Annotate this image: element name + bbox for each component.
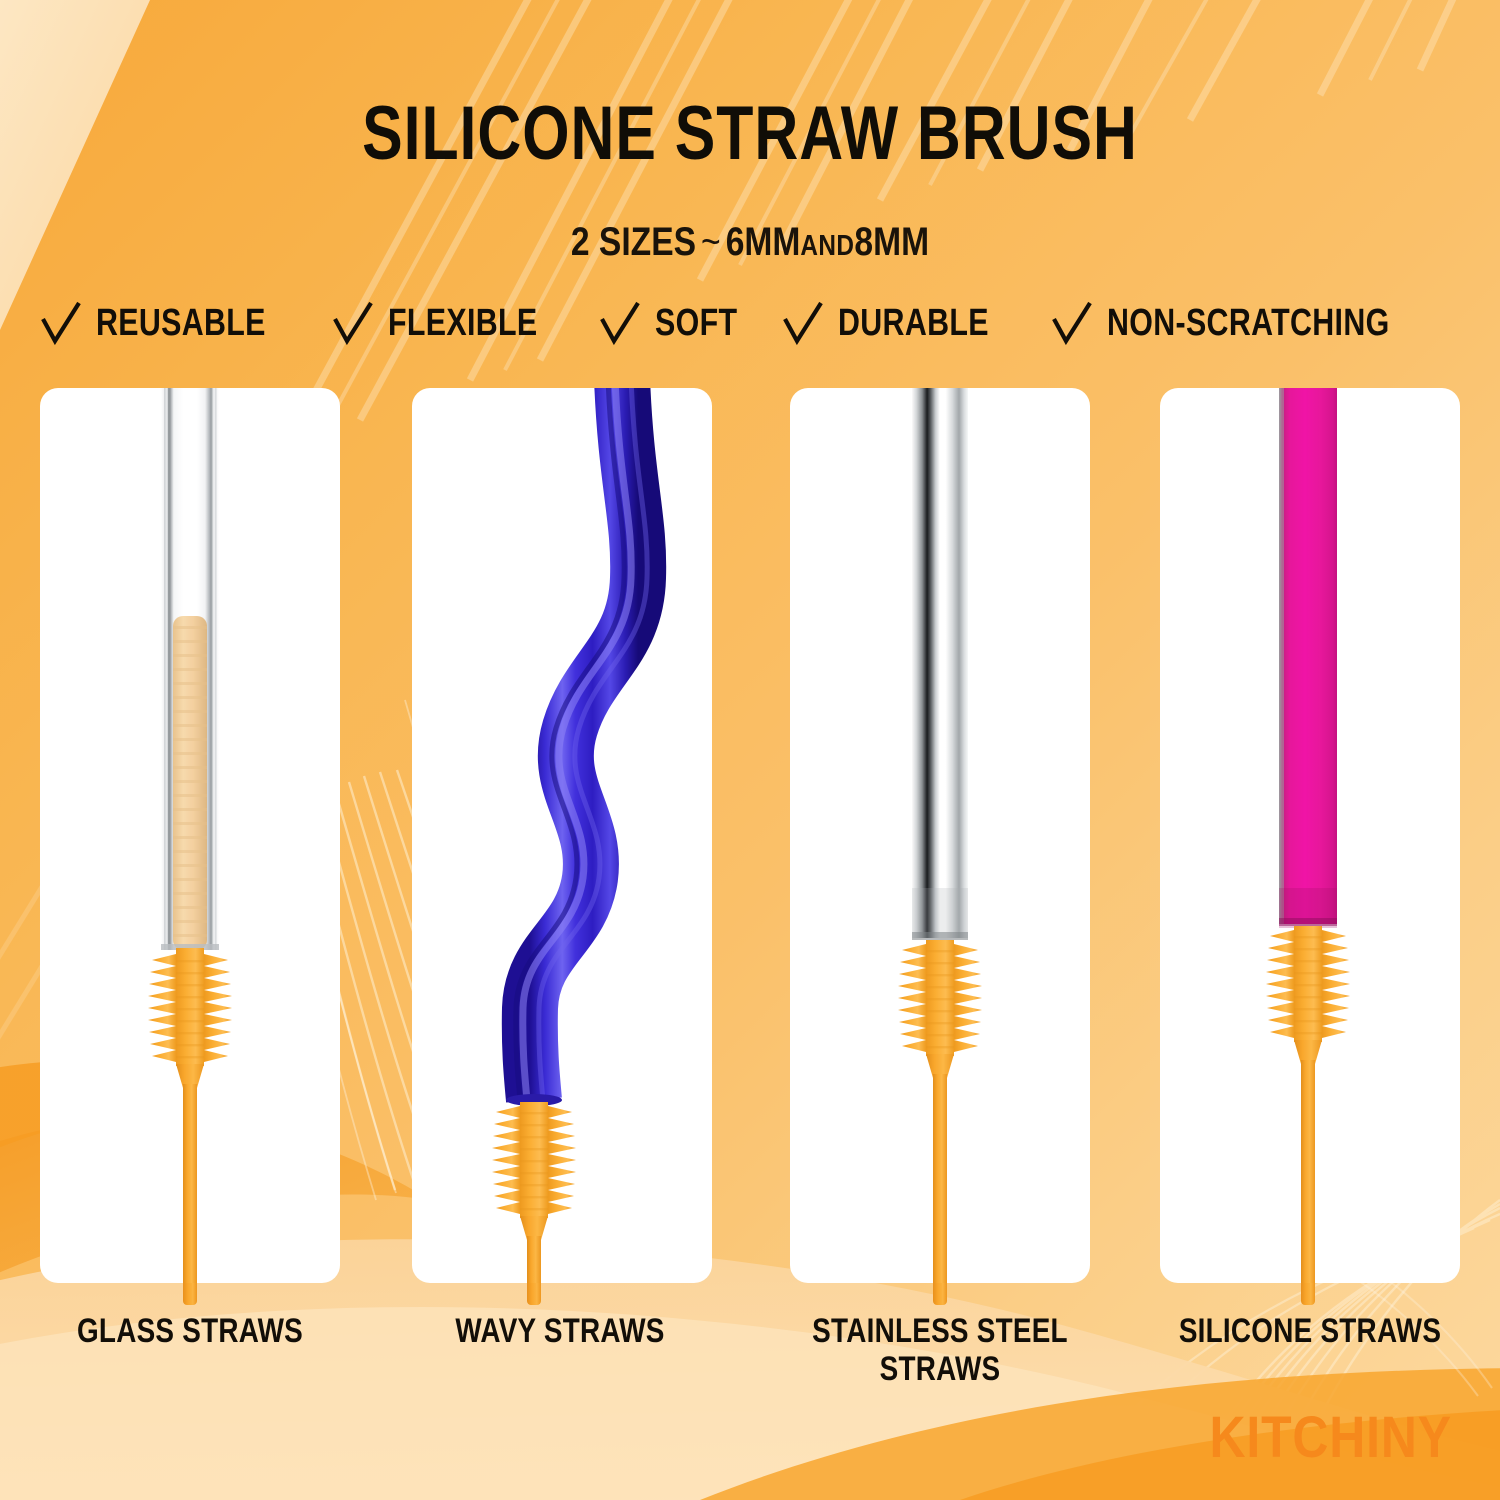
subtitle-tilde: ~ [696,220,726,264]
feature-label: SOFT [655,304,737,342]
feature-list: REUSABLE FLEXIBLE SOFT DURABLE NON-SCRAT [40,296,1460,350]
brush-handle-glass [183,1283,197,1305]
feature-non-scratching: NON-SCRATCHING [1051,300,1460,346]
silicone-brush-head [148,948,232,1088]
product-infographic: SILICONE STRAW BRUSH 2 SIZES~6MMAND8MM R… [0,0,1500,1500]
product-panel-glass[interactable] [40,388,340,1283]
caption-silicone: SILICONE STRAWS [1130,1312,1490,1350]
steel-straw [790,388,1090,1283]
check-icon [782,300,824,346]
silicone-straw [1160,388,1460,1283]
product-panel-silicone[interactable] [1160,388,1460,1283]
feature-soft: SOFT [599,300,758,346]
silicone-brush-head [492,1102,576,1240]
page-title: SILICONE STRAW BRUSH [150,96,1350,172]
feature-label: FLEXIBLE [388,304,538,342]
brush-handle-steel [933,1283,947,1305]
caption-line: STAINLESS STEEL [801,1312,1080,1350]
wavy-straw [412,388,712,1283]
check-icon [332,300,374,346]
feature-flexible: FLEXIBLE [332,300,575,346]
product-panel-wavy[interactable] [412,388,712,1283]
check-icon [1051,300,1093,346]
brush-handle-silicone [1301,1283,1315,1305]
brand-logo: KITCHINY [1210,1404,1452,1471]
caption-line: GLASS STRAWS [34,1312,346,1350]
subtitle-and: AND [800,230,854,262]
caption-line: WAVY STRAWS [421,1312,700,1350]
feature-label: DURABLE [838,304,989,342]
subtitle-sizes: 2 SIZES [571,220,696,264]
subtitle-size-b: 8MM [854,220,929,264]
check-icon [40,300,82,346]
caption-steel: STAINLESS STEEL STRAWS [770,1312,1110,1388]
silicone-brush-head [898,940,982,1078]
subtitle: 2 SIZES~6MMAND8MM [120,222,1380,262]
feature-label: REUSABLE [96,304,266,342]
silicone-brush-head [1266,926,1350,1064]
brush-handle-wavy [527,1283,541,1305]
caption-line: STRAWS [801,1350,1080,1388]
caption-glass: GLASS STRAWS [0,1312,380,1350]
glass-straw [40,388,340,1283]
check-icon [599,300,641,346]
feature-reusable: REUSABLE [40,300,308,346]
caption-line: SILICONE STRAWS [1162,1312,1457,1350]
subtitle-size-a: 6MM [726,220,801,264]
feature-durable: DURABLE [782,300,1027,346]
caption-wavy: WAVY STRAWS [390,1312,730,1350]
product-panel-steel[interactable] [790,388,1090,1283]
feature-label: NON-SCRATCHING [1107,304,1390,342]
